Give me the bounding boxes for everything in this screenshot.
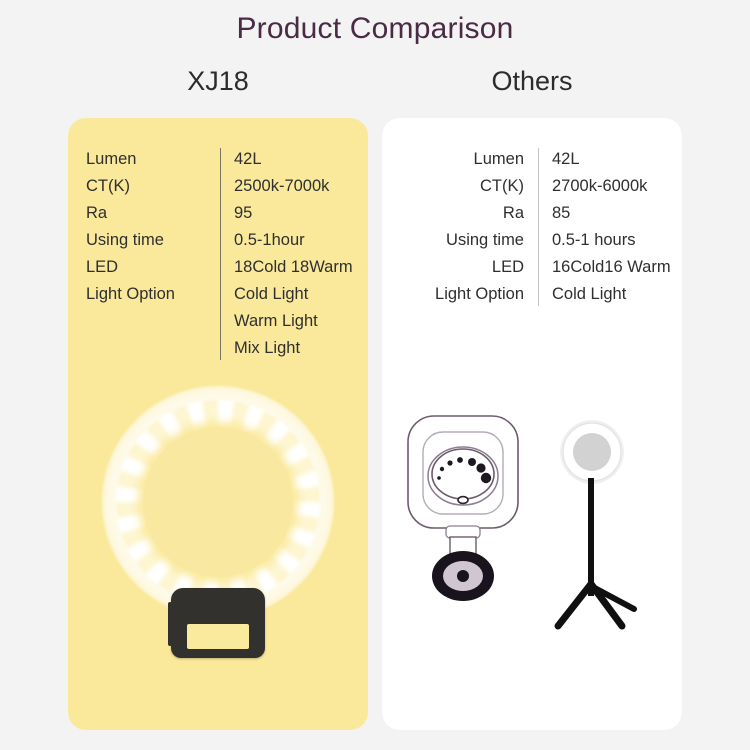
spec-value-line: Mix Light xyxy=(234,335,353,362)
dial-dot xyxy=(476,463,485,472)
comparison-infographic: Product Comparison XJ18 Lumen CT(K) Ra U… xyxy=(0,0,750,750)
column-header-others: Others xyxy=(382,66,682,97)
spec-value: 2700k-6000k xyxy=(552,173,671,200)
spec-value: 18Cold 18Warm xyxy=(234,254,353,281)
spec-value-line: Cold Light xyxy=(234,281,353,308)
spec-value: 16Cold16 Warm xyxy=(552,254,671,281)
product-panel-others: Lumen CT(K) Ra Using time LED Light Opti… xyxy=(382,118,682,730)
spec-label: LED xyxy=(392,254,524,281)
spec-value-line: Warm Light xyxy=(234,308,353,335)
spec-label: Ra xyxy=(86,200,206,227)
column-header-xj18: XJ18 xyxy=(68,66,368,97)
spec-value: 95 xyxy=(234,200,353,227)
others-product-images xyxy=(382,408,682,708)
tripod-pole xyxy=(588,478,594,596)
neck-collar xyxy=(446,526,480,538)
dial-dot xyxy=(468,458,476,466)
spec-value: 0.5-1hour xyxy=(234,227,353,254)
dial-dot xyxy=(437,476,441,480)
spec-label: Lumen xyxy=(86,146,206,173)
spec-value: 42L xyxy=(552,146,671,173)
selfie-ring-light-image xyxy=(102,386,334,618)
clip-center-dot xyxy=(457,570,469,582)
spec-value-column: 42L 2500k-7000k 95 0.5-1hour 18Cold 18Wa… xyxy=(234,146,353,362)
spec-label: CT(K) xyxy=(86,173,206,200)
ring-inner-hole xyxy=(143,427,293,577)
spec-table-others: Lumen CT(K) Ra Using time LED Light Opti… xyxy=(392,146,671,308)
clip-on-square-light-image xyxy=(394,408,534,638)
spec-label: Light Option xyxy=(392,281,524,308)
spec-label: Using time xyxy=(86,227,206,254)
spec-value: Cold Light xyxy=(552,281,671,308)
clip-slot xyxy=(187,624,249,649)
spec-label-column: Lumen CT(K) Ra Using time LED Light Opti… xyxy=(86,146,206,362)
dial-dot xyxy=(481,473,491,483)
spec-value-column: 42L 2700k-6000k 85 0.5-1 hours 16Cold16 … xyxy=(552,146,671,308)
spec-label: Ra xyxy=(392,200,524,227)
spec-table-xj18: Lumen CT(K) Ra Using time LED Light Opti… xyxy=(86,146,353,362)
product-panel-xj18: Lumen CT(K) Ra Using time LED Light Opti… xyxy=(68,118,368,730)
spec-table-divider xyxy=(220,148,221,360)
phone-clip xyxy=(171,588,265,658)
page-title: Product Comparison xyxy=(0,12,750,46)
dial-indicator-oval xyxy=(458,497,468,504)
ring-light-tripod-image xyxy=(542,416,672,631)
ring-light-center xyxy=(573,433,611,471)
spec-value: 0.5-1 hours xyxy=(552,227,671,254)
tripod-leg xyxy=(558,584,591,626)
spec-label: LED xyxy=(86,254,206,281)
spec-label: CT(K) xyxy=(392,173,524,200)
spec-value-multiline: Cold Light Warm Light Mix Light xyxy=(234,281,353,362)
spec-label: Using time xyxy=(392,227,524,254)
spec-value: 42L xyxy=(234,146,353,173)
dial-dot xyxy=(447,460,452,465)
dial-dot xyxy=(457,457,463,463)
spec-table-divider xyxy=(538,148,539,306)
spec-label: Light Option xyxy=(86,281,206,308)
spec-label-column: Lumen CT(K) Ra Using time LED Light Opti… xyxy=(392,146,524,308)
spec-label: Lumen xyxy=(392,146,524,173)
spec-value: 2500k-7000k xyxy=(234,173,353,200)
dial-dot xyxy=(440,467,444,471)
spec-value: 85 xyxy=(552,200,671,227)
